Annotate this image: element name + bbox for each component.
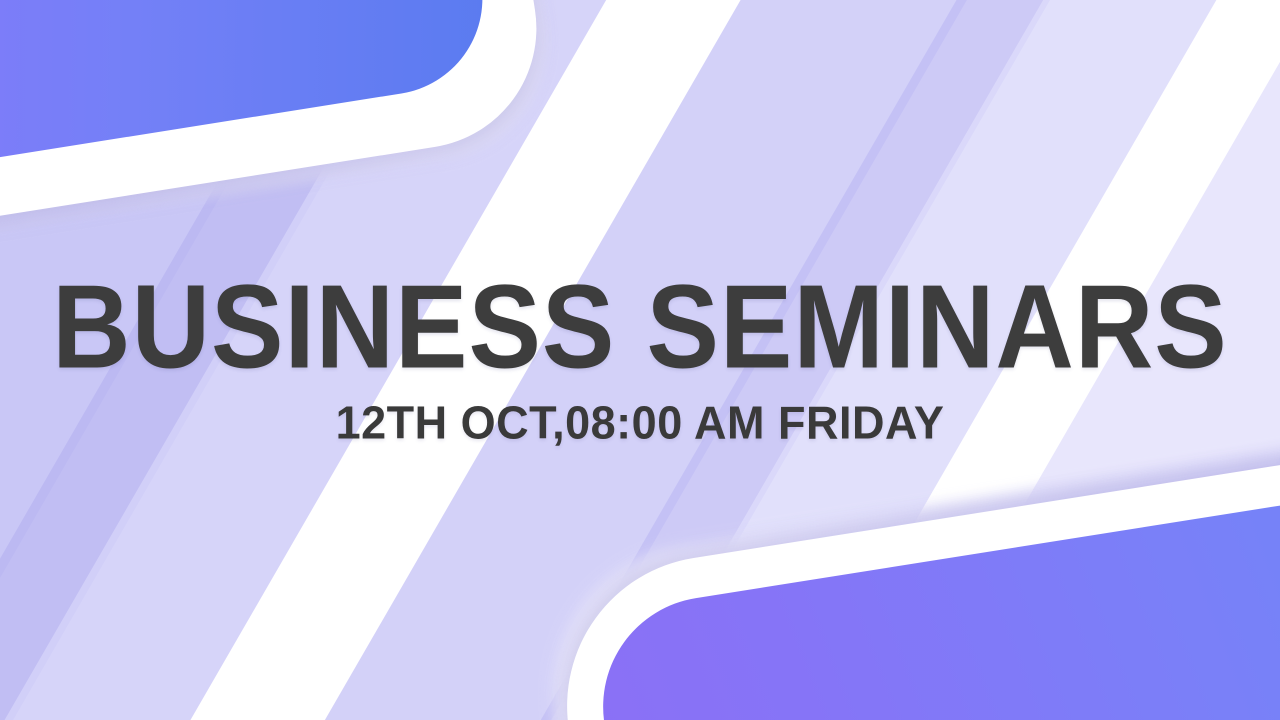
top-left-decor-group: [0, 0, 554, 266]
poster-canvas: BUSINESS SEMINARS 12TH OCT,08:00 AM FRID…: [0, 0, 1280, 720]
poster-headline: BUSINESS SEMINARS: [52, 272, 1228, 381]
poster-subline: 12TH OCT,08:00 AM FRIDAY: [336, 400, 945, 446]
bottom-right-decor-group: [545, 425, 1280, 720]
